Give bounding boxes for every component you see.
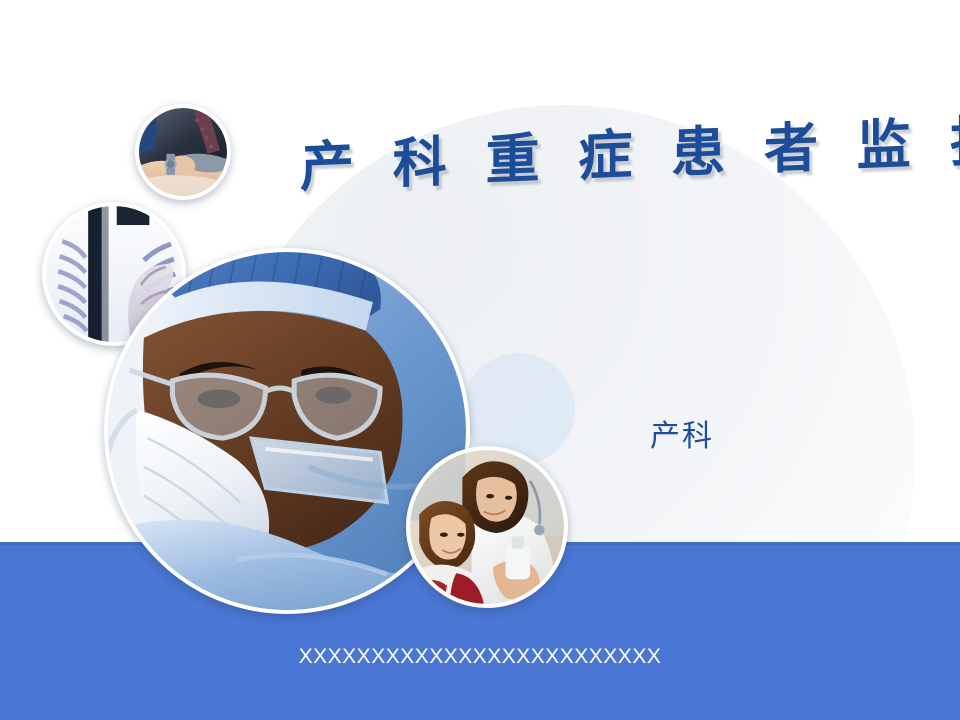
- nurse-with-child-illustration: [410, 450, 564, 604]
- slide-title: 产 科 重 症 患 者 监 护: [300, 107, 960, 202]
- nurse-with-child-photo: [406, 446, 568, 608]
- doctor-in-suit-illustration: [139, 108, 227, 196]
- slide-subtitle: 产科: [650, 411, 714, 455]
- slide-footer-text: XXXXXXXXXXXXXXXXXXXXXXXXX: [0, 645, 960, 669]
- doctor-in-suit-photo: [135, 104, 231, 200]
- title-slide: 产 科 重 症 患 者 监 护 产科 XXXXXXXXXXXXXXXXXXXXX…: [0, 0, 960, 720]
